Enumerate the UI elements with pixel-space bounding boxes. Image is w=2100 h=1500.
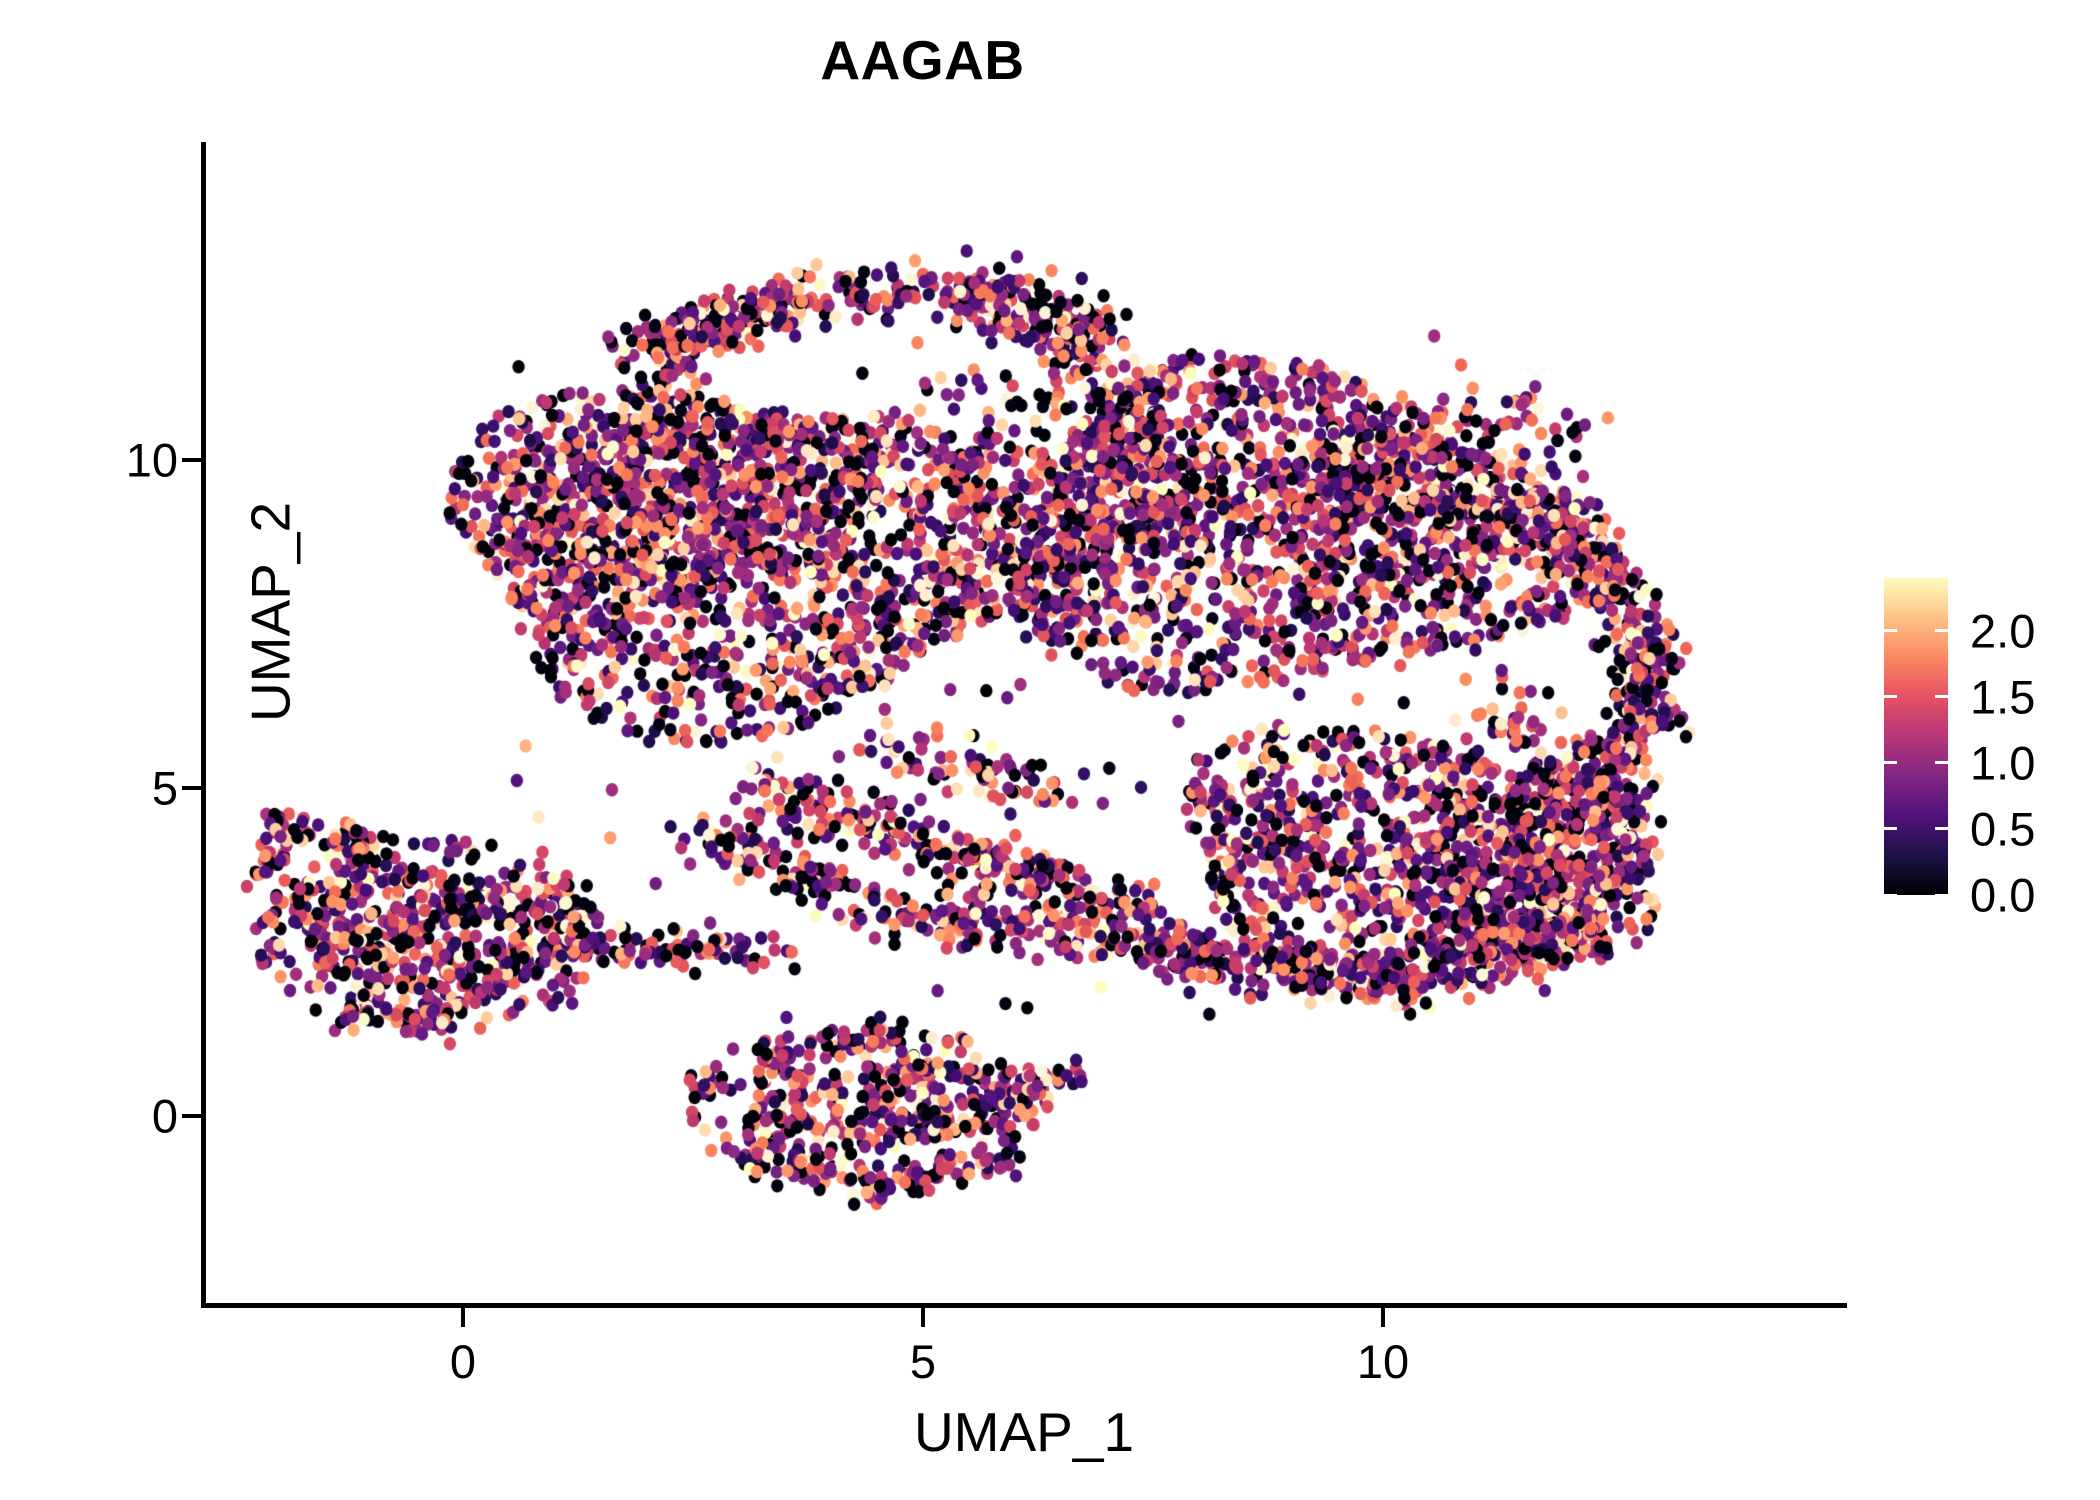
- colorbar-tick-label: 2.0: [1970, 603, 2035, 658]
- colorbar-tick-mark: [1935, 894, 1948, 897]
- x-axis-line: [201, 1303, 1847, 1308]
- x-axis-label: UMAP_1: [201, 1400, 1847, 1464]
- y-tick-label: 5: [152, 761, 178, 816]
- colorbar-tick-mark: [1884, 894, 1897, 897]
- colorbar-tick-label: 1.5: [1970, 669, 2035, 724]
- colorbar-tick-label: 0.5: [1970, 801, 2035, 856]
- y-axis-line: [201, 142, 206, 1308]
- y-tick-label: 10: [126, 433, 178, 488]
- x-tick-label: 0: [450, 1334, 476, 1389]
- colorbar-gradient: [1884, 578, 1948, 895]
- x-tick-mark: [921, 1308, 925, 1327]
- feature-plot-figure: AAGAB 0510 0510 UMAP_1 UMAP_2 2.01.51.00…: [0, 0, 2100, 1500]
- y-tick-mark: [182, 786, 201, 790]
- colorbar-tick-mark: [1935, 827, 1948, 830]
- x-tick-label: 10: [1357, 1334, 1409, 1389]
- y-tick-label: 0: [152, 1089, 178, 1144]
- plot-panel: [205, 142, 1845, 1305]
- scatter-canvas: [205, 142, 1845, 1305]
- colorbar-tick-mark: [1884, 695, 1897, 698]
- y-axis-label: UMAP_2: [239, 31, 303, 1194]
- colorbar-tick-mark: [1935, 695, 1948, 698]
- y-tick-mark: [182, 1114, 201, 1118]
- x-tick-mark: [461, 1308, 465, 1327]
- colorbar-tick-mark: [1935, 629, 1948, 632]
- x-tick-label: 5: [910, 1334, 936, 1389]
- colorbar-tick-mark: [1884, 827, 1897, 830]
- colorbar-tick-label: 1.0: [1970, 735, 2035, 790]
- colorbar-tick-label: 0.0: [1970, 868, 2035, 923]
- colorbar-tick-mark: [1884, 761, 1897, 764]
- x-tick-mark: [1381, 1308, 1385, 1327]
- colorbar-legend: 2.01.51.00.50.0: [1884, 578, 2084, 898]
- y-tick-mark: [182, 458, 201, 462]
- colorbar-tick-mark: [1884, 629, 1897, 632]
- colorbar-tick-mark: [1935, 761, 1948, 764]
